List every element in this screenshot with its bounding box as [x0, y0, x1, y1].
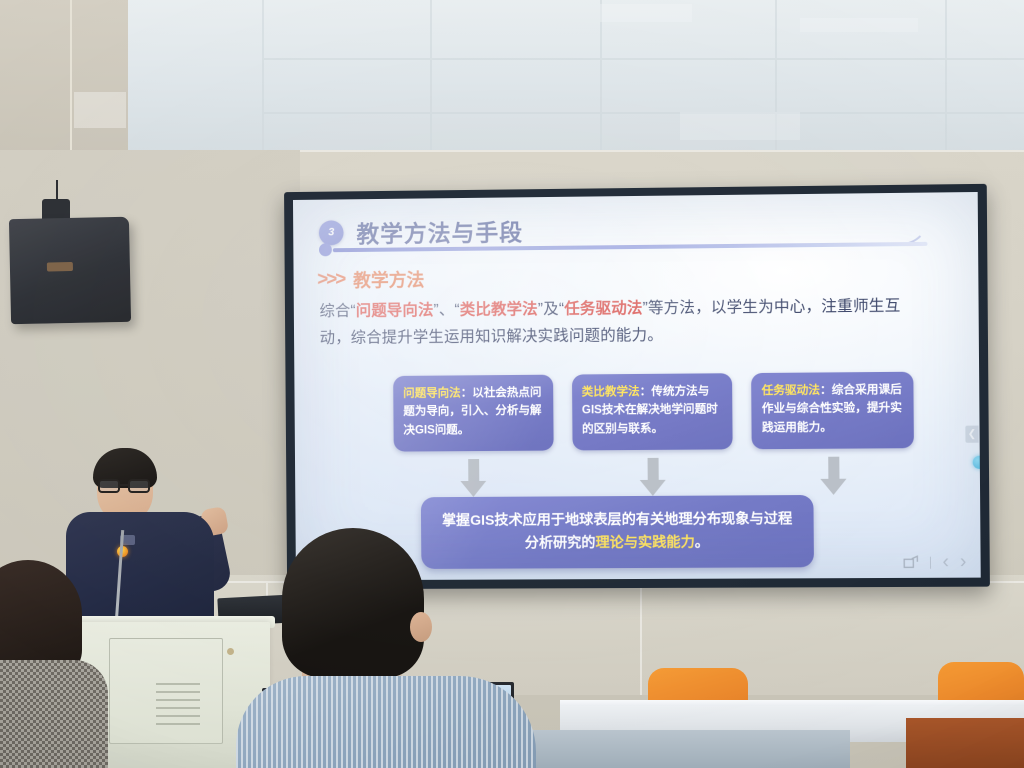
- method-box-lead: 问题导向法: [403, 386, 461, 399]
- projection-screen[interactable]: 3 教学方法与手段 >>> 教学方法 综合“问题导向法”、“类比教学法”及“任务…: [293, 192, 981, 580]
- down-arrow-icon: [820, 457, 847, 497]
- audience-center-ear: [410, 612, 432, 642]
- share-icon[interactable]: [903, 554, 919, 570]
- podium-door-panel: [109, 638, 223, 744]
- audience-center-hair: [282, 528, 424, 678]
- collapse-panel-toggle[interactable]: ❮: [965, 426, 978, 443]
- classroom-photo: 3 教学方法与手段 >>> 教学方法 综合“问题导向法”、“类比教学法”及“任务…: [0, 0, 1024, 768]
- audience-left: [0, 560, 124, 768]
- para-seg-3: 及: [543, 301, 559, 318]
- audience-left-jacket: [0, 660, 108, 768]
- prev-slide-button[interactable]: ‹: [942, 553, 949, 572]
- method-box: 问题导向法：以社会热点问题为导向，引入、分析与解决GIS问题。: [393, 375, 553, 452]
- speaker-badge: [47, 262, 73, 272]
- presentation-slide: 3 教学方法与手段 >>> 教学方法 综合“问题导向法”、“类比教学法”及“任务…: [293, 192, 981, 580]
- control-divider: [930, 556, 931, 568]
- title-bullet-dot: [319, 243, 332, 256]
- para-seg-2: 、: [439, 302, 455, 319]
- summary-highlight: 理论与实践能力: [595, 535, 694, 551]
- method-highlight-1: 问题导向法: [356, 302, 434, 320]
- method-box: 任务驱动法：综合采用课后作业与综合性实验，提升实践运用能力。: [751, 372, 913, 449]
- next-slide-button[interactable]: ›: [960, 552, 967, 571]
- section-number-badge: 3: [319, 220, 344, 245]
- chevrons-right-icon: >>>: [317, 269, 344, 291]
- method-box: 类比教学法：传统方法与GIS技术在解决地学问题时的区别与联系。: [572, 373, 733, 450]
- method-highlight-2: 类比教学法: [460, 301, 538, 319]
- status-dot[interactable]: [973, 456, 981, 469]
- method-box-lead: 类比教学法: [582, 385, 640, 398]
- eyeglasses-icon: [96, 479, 154, 493]
- method-box-sep: ：: [820, 383, 832, 396]
- para-seg-1: 综合: [319, 303, 350, 320]
- wall-speaker: [9, 217, 131, 324]
- subtitle-row: >>> 教学方法: [317, 266, 424, 293]
- method-box-sep: ：: [640, 385, 652, 398]
- summary-text-part2: 。: [695, 535, 709, 551]
- method-box-sep: ：: [461, 386, 473, 399]
- section-subtitle: 教学方法: [353, 266, 424, 293]
- slide-controls[interactable]: ‹ ›: [903, 552, 967, 571]
- down-arrow-icon: [640, 458, 666, 498]
- method-box-lead: 任务驱动法: [762, 384, 820, 397]
- body-paragraph: 综合“问题导向法”、“类比教学法”及“任务驱动法”等方法，以学生为中心，注重师生…: [319, 293, 929, 352]
- page-title: 教学方法与手段: [356, 213, 523, 249]
- method-highlight-3: 任务驱动法: [564, 300, 643, 318]
- audience-center: [228, 528, 548, 768]
- slide-title-row: 3 教学方法与手段: [319, 213, 523, 249]
- audience-center-shirt: [236, 676, 536, 768]
- table-wood-panel: [906, 718, 1024, 768]
- down-arrow-icon: [460, 459, 486, 499]
- method-box-group: 问题导向法：以社会热点问题为导向，引入、分析与解决GIS问题。 类比教学法：传统…: [393, 372, 914, 452]
